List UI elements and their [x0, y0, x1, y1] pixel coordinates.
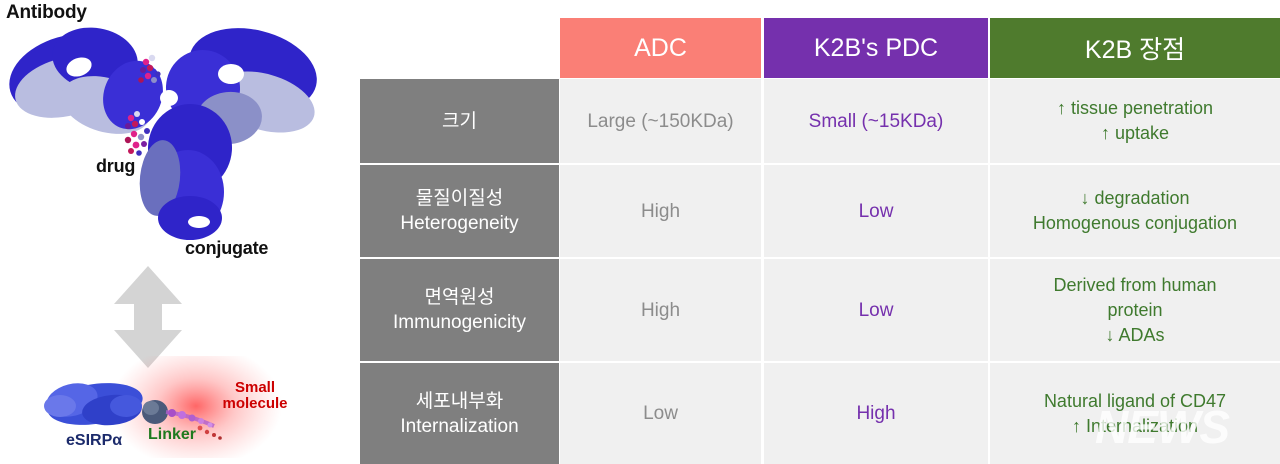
cell-line: 물질이질성: [416, 186, 503, 211]
cell-line: Heterogeneity: [400, 211, 518, 236]
label-conjugate: conjugate: [185, 238, 268, 259]
cell-line: ↓ ADAs: [1105, 323, 1164, 348]
header-advantage: K2B 장점: [990, 18, 1280, 78]
cell-line: 세포내부화: [416, 389, 503, 414]
header-adc: ADC: [560, 18, 761, 78]
table-row: 크기Large (~150KDa)Small (~15KDa)↑ tissue …: [360, 79, 1280, 163]
cell-line: 면역원성: [425, 285, 495, 310]
double-arrow-icon: [108, 264, 188, 370]
label-linker: Linker: [148, 426, 196, 444]
header-pdc: K2B's PDC: [764, 18, 988, 78]
cell-line: Homogenous conjugation: [1033, 211, 1237, 236]
cell-line: ↓ degradation: [1080, 186, 1189, 211]
table-cell-advantage: Natural ligand of CD47↑ Internalization: [990, 363, 1280, 464]
table-cell-adc: Low: [560, 363, 761, 464]
comparison-table: ADC K2B's PDC K2B 장점 크기Large (~150KDa)Sm…: [360, 18, 1280, 458]
table-cell-label: 물질이질성Heterogeneity: [360, 165, 559, 257]
table-header-row: ADC K2B's PDC K2B 장점: [360, 18, 1280, 78]
table-cell-pdc: Low: [764, 165, 988, 257]
label-drug: drug: [96, 156, 135, 177]
label-small-molecule-line1: Small: [200, 380, 310, 396]
table-row: 물질이질성HeterogeneityHighLow↓ degradationHo…: [360, 165, 1280, 257]
cell-line: Small (~15KDa): [809, 109, 944, 134]
cell-line: protein: [1107, 298, 1162, 323]
cell-line: High: [641, 298, 680, 323]
cell-line: ↑ tissue penetration: [1057, 96, 1213, 121]
table-cell-pdc: High: [764, 363, 988, 464]
table-cell-pdc: Small (~15KDa): [764, 79, 988, 163]
cell-line: Immunogenicity: [393, 310, 526, 335]
label-antibody: Antibody: [6, 2, 87, 24]
table-row: 세포내부화InternalizationLowHighNatural ligan…: [360, 363, 1280, 464]
cell-line: 크기: [442, 109, 477, 134]
cell-line: High: [856, 401, 895, 426]
table-row: 면역원성ImmunogenicityHighLowDerived from hu…: [360, 259, 1280, 361]
label-esirp-alpha: eSIRPα: [66, 432, 122, 450]
table-cell-label: 세포내부화Internalization: [360, 363, 559, 464]
table-cell-label: 면역원성Immunogenicity: [360, 259, 559, 361]
table-cell-advantage: Derived from humanprotein↓ ADAs: [990, 259, 1280, 361]
table-cell-pdc: Low: [764, 259, 988, 361]
cell-line: Large (~150KDa): [587, 109, 733, 134]
table-corner-cell: [360, 18, 559, 78]
figure-panel: Antibody drug conjugate: [0, 0, 350, 458]
cell-line: Low: [859, 298, 894, 323]
drug-payload-icon: [0, 0, 350, 268]
label-small-molecule-line2: molecule: [200, 396, 310, 412]
cell-line: High: [641, 199, 680, 224]
table-cell-adc: High: [560, 165, 761, 257]
table-cell-advantage: ↑ tissue penetration↑ uptake: [990, 79, 1280, 163]
cell-line: Low: [643, 401, 678, 426]
table-cell-advantage: ↓ degradationHomogenous conjugation: [990, 165, 1280, 257]
cell-line: Internalization: [400, 414, 518, 439]
table-cell-adc: High: [560, 259, 761, 361]
table-cell-label: 크기: [360, 79, 559, 163]
antibody-drug-conjugate-illustration: Antibody drug conjugate: [0, 0, 350, 268]
cell-line: Low: [859, 199, 894, 224]
pdc-illustration: eSIRPα Linker Small molecule: [0, 356, 350, 458]
cell-line: ↑ uptake: [1101, 121, 1169, 146]
cell-line: ↑ Internalization: [1072, 414, 1198, 439]
cell-line: Natural ligand of CD47: [1044, 389, 1226, 414]
table-cell-adc: Large (~150KDa): [560, 79, 761, 163]
label-small-molecule: Small molecule: [200, 380, 310, 412]
cell-line: Derived from human: [1053, 273, 1216, 298]
